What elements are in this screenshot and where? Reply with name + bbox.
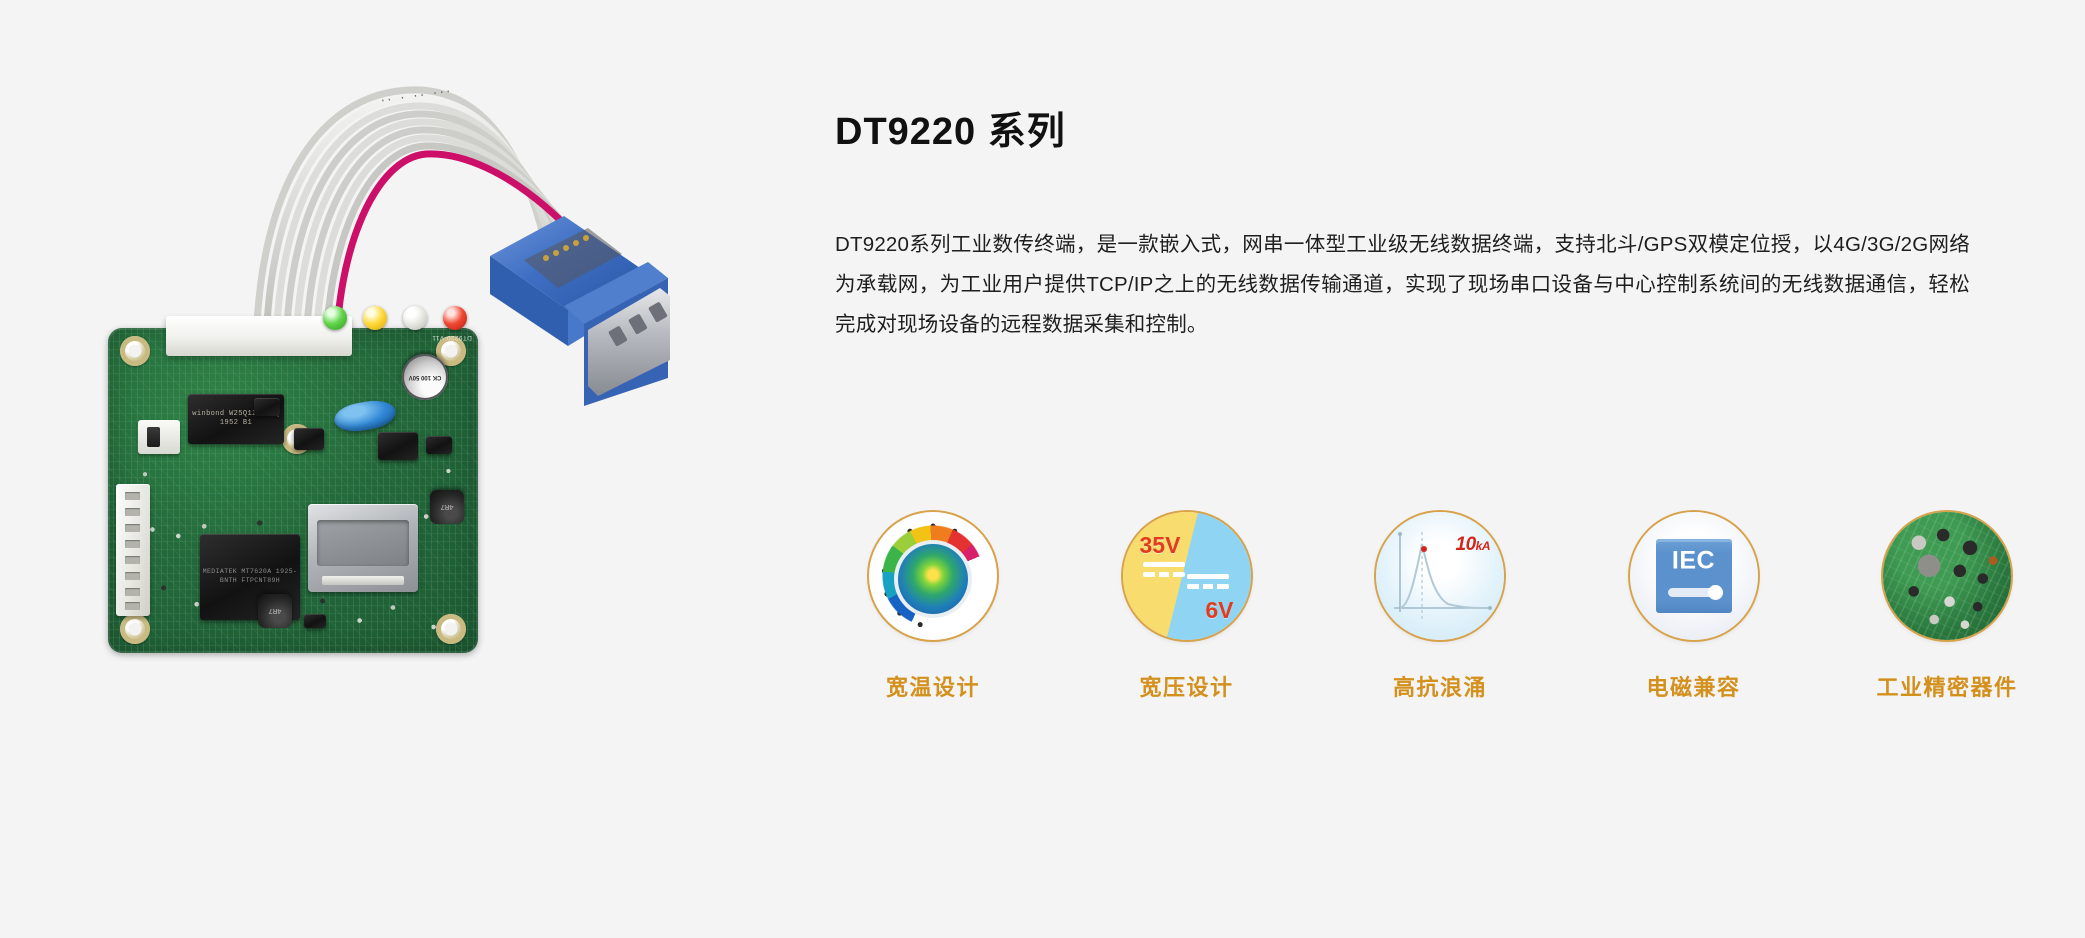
mount-hole [120, 614, 150, 644]
feature-emc[interactable]: IEC 电磁兼容 [1596, 512, 1792, 702]
board-silkscreen-label: DT9220-V11 [432, 334, 472, 341]
feature-wide-temperature[interactable]: 宽温设计 [835, 512, 1031, 702]
dip-switch[interactable] [138, 420, 180, 454]
ic-small [254, 398, 280, 416]
led-red-icon [443, 306, 467, 330]
power-inductor: 4R7 [258, 594, 292, 628]
feature-label: 电磁兼容 [1646, 670, 1740, 702]
feature-wide-voltage[interactable]: 35V 6V 宽压设计 [1089, 512, 1285, 702]
feature-list: 宽温设计 35V 6V 宽压设计 [835, 512, 2045, 702]
product-intro-page: ·· · ·· ··· [0, 0, 2085, 938]
product-info: DT9220 系列 DT9220系列工业数传终端，是一款嵌入式，网串一体型工业级… [835, 100, 2015, 345]
electrolytic-capacitor: CK 100 50V [402, 354, 448, 400]
feature-industrial-components[interactable]: 工业精密器件 [1849, 512, 2045, 702]
feature-label: 高抗浪涌 [1393, 670, 1487, 702]
pcb-board: winbond W25Q128JVSQ 1952 B1 MEDIATEK MT7… [108, 328, 478, 653]
page-title: DT9220 系列 [835, 100, 2015, 155]
voltage-high-value: 35V [1140, 532, 1181, 559]
mount-hole [120, 336, 150, 366]
mount-hole [436, 614, 466, 644]
iec-badge-icon: IEC [1630, 512, 1758, 640]
ic-so8-small [294, 428, 324, 450]
pin-header [116, 484, 150, 616]
voltage-range-icon: 35V 6V [1123, 512, 1251, 640]
surge-value: 10kA [1456, 534, 1490, 556]
thermal-gauge-icon [869, 512, 997, 640]
pcb-closeup-icon [1883, 512, 2011, 640]
ic-so8 [378, 432, 418, 460]
led-green-icon [323, 306, 347, 330]
voltage-low-value: 6V [1205, 597, 1233, 624]
surge-waveform-icon: 10kA [1376, 512, 1504, 640]
feature-label: 宽压设计 [1139, 670, 1233, 702]
feature-label: 工业精密器件 [1876, 670, 2017, 702]
feature-label: 宽温设计 [886, 670, 980, 702]
feature-surge-protection[interactable]: 10kA 高抗浪涌 [1342, 512, 1538, 702]
ic-small [426, 436, 452, 454]
product-description: DT9220系列工业数传终端，是一款嵌入式，网串一体型工业级无线数据终端，支持北… [835, 225, 1970, 345]
ic-small [304, 614, 326, 628]
led-yellow-icon [363, 306, 387, 330]
db9-connector [472, 210, 702, 410]
led-white-icon [403, 306, 427, 330]
sim-card-slot[interactable] [308, 504, 418, 592]
power-inductor: 4R7 [430, 490, 464, 524]
iec-text: IEC [1672, 546, 1715, 575]
status-leds [323, 306, 467, 330]
product-photo: ·· · ·· ··· [80, 60, 780, 760]
